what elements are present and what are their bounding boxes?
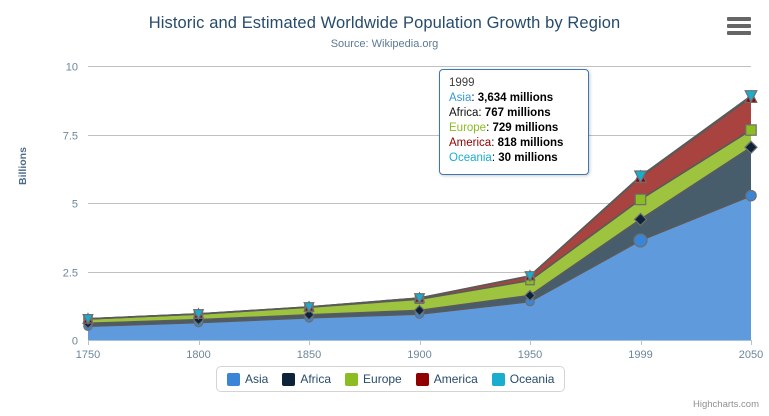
highcharts-container: Historic and Estimated Worldwide Populat… (0, 0, 769, 416)
legend-item-asia[interactable]: Asia (227, 372, 268, 386)
svg-text:7.5: 7.5 (63, 131, 78, 143)
svg-text:2050: 2050 (739, 349, 763, 361)
svg-text:1800: 1800 (186, 349, 210, 361)
tooltip-rows: Asia: 3,634 millionsAfrica: 767 millions… (449, 91, 579, 166)
svg-text:5: 5 (72, 199, 78, 211)
chart-legend: AsiaAfricaEuropeAmericaOceania (216, 366, 565, 392)
legend-label: America (434, 372, 478, 386)
tooltip-series-value: 729 millions (492, 122, 558, 134)
marker-asia[interactable] (634, 234, 647, 247)
marker-europe[interactable] (635, 194, 645, 204)
tooltip-series-value: 818 millions (498, 137, 564, 149)
plot-area: 02.557.5101750180018501900195019992050 (0, 0, 769, 416)
tooltip-series-name: America (449, 137, 491, 149)
tooltip-series-name: Africa (449, 107, 478, 119)
legend-swatch-icon (492, 373, 505, 386)
legend-item-oceania[interactable]: Oceania (492, 372, 555, 386)
svg-text:0: 0 (72, 336, 78, 348)
svg-text:2.5: 2.5 (63, 268, 78, 280)
tooltip-row: Asia: 3,634 millions (449, 91, 579, 106)
marker-asia[interactable] (746, 190, 756, 200)
tooltip-series-value: 3,634 millions (478, 92, 553, 104)
legend-label: Asia (245, 372, 268, 386)
legend-swatch-icon (345, 373, 358, 386)
chart-tooltip: 1999 Asia: 3,634 millionsAfrica: 767 mil… (439, 69, 589, 175)
chart-credits: Highcharts.com (693, 399, 759, 410)
svg-text:1850: 1850 (297, 349, 321, 361)
tooltip-row: Africa: 767 millions (449, 106, 579, 121)
svg-text:10: 10 (66, 62, 78, 74)
tooltip-row: Oceania: 30 millions (449, 151, 579, 166)
svg-text:1900: 1900 (407, 349, 431, 361)
tooltip-row: America: 818 millions (449, 136, 579, 151)
svg-text:1999: 1999 (628, 349, 652, 361)
tooltip-series-value: 30 millions (498, 152, 557, 164)
svg-text:1750: 1750 (76, 349, 100, 361)
legend-swatch-icon (416, 373, 429, 386)
marker-europe[interactable] (746, 125, 756, 135)
legend-swatch-icon (227, 373, 240, 386)
legend-label: Africa (300, 372, 331, 386)
legend-label: Oceania (510, 372, 555, 386)
tooltip-series-name: Oceania (449, 152, 492, 164)
legend-item-europe[interactable]: Europe (345, 372, 402, 386)
legend-swatch-icon (282, 373, 295, 386)
tooltip-header: 1999 (449, 77, 579, 89)
legend-label: Europe (363, 372, 402, 386)
tooltip-series-name: Europe (449, 122, 486, 134)
tooltip-series-name: Asia (449, 92, 471, 104)
tooltip-row: Europe: 729 millions (449, 121, 579, 136)
svg-text:1950: 1950 (518, 349, 542, 361)
legend-item-america[interactable]: America (416, 372, 478, 386)
tooltip-series-value: 767 millions (485, 107, 551, 119)
legend-item-africa[interactable]: Africa (282, 372, 331, 386)
